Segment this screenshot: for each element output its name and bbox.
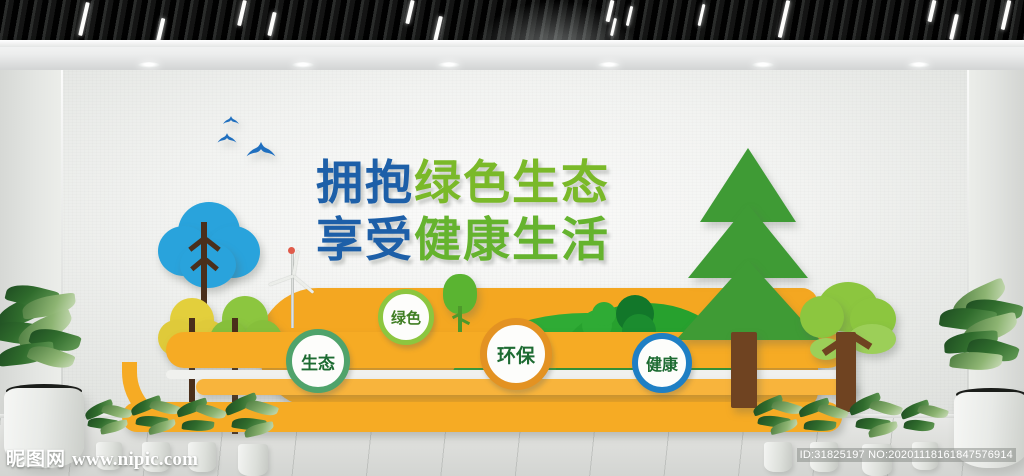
headline-line1-green: 绿色生态 <box>414 156 610 211</box>
soffit-lip <box>0 40 1024 47</box>
small-pot <box>238 444 268 476</box>
page-title: 拥抱绿色生态 享受健康生活 <box>316 155 610 269</box>
bird-icon <box>216 132 238 149</box>
bird-icon <box>244 140 278 164</box>
badge-health-label: 健康 <box>646 351 678 375</box>
badge-green-label: 绿色 <box>391 307 421 328</box>
eco-wall-graphic: 拥抱绿色生态 享受健康生活 <box>0 70 1024 420</box>
recessed-downlight <box>292 62 314 68</box>
bird-glyph <box>216 132 238 145</box>
bird-icon <box>222 114 240 129</box>
hill-tree-crown <box>592 302 616 326</box>
headline-line2-blue: 享受 <box>316 213 414 268</box>
recessed-downlight <box>438 62 460 68</box>
badge-health[interactable]: 健康 <box>632 333 692 393</box>
badge-environment[interactable]: 环保 <box>480 318 552 390</box>
watermark-id: ID:31825197 NO:20201118161847576914 <box>797 448 1016 462</box>
watermark-site-name: 昵图网 <box>6 444 66 471</box>
badge-ecology-label: 生态 <box>301 349 335 374</box>
recessed-downlight <box>752 62 774 68</box>
headline-line1-blue: 拥抱 <box>316 156 414 211</box>
bird-glyph <box>222 115 240 126</box>
culture-wall-photo: 拥抱绿色生态 享受健康生活 <box>0 0 1024 476</box>
bird-glyph <box>244 140 278 160</box>
pine-trunk <box>731 332 757 408</box>
recessed-downlight <box>138 62 160 68</box>
headline-line-2: 享受健康生活 <box>316 212 610 269</box>
small-pot <box>764 442 792 472</box>
recessed-downlight <box>908 62 930 68</box>
badge-ecology[interactable]: 生态 <box>286 329 350 393</box>
headline-line2-green: 健康生活 <box>414 213 610 268</box>
badge-environment-label: 环保 <box>497 341 535 368</box>
headline-line-1: 拥抱绿色生态 <box>316 155 610 212</box>
watermark-site-url: www.nipic.com <box>72 449 198 471</box>
recessed-downlight <box>598 62 620 68</box>
badge-green[interactable]: 绿色 <box>378 289 434 345</box>
pine-tier-bottom <box>676 260 820 340</box>
wind-turbine-hub <box>288 247 295 254</box>
watermark-left: 昵图网 www.nipic.com <box>6 444 198 471</box>
